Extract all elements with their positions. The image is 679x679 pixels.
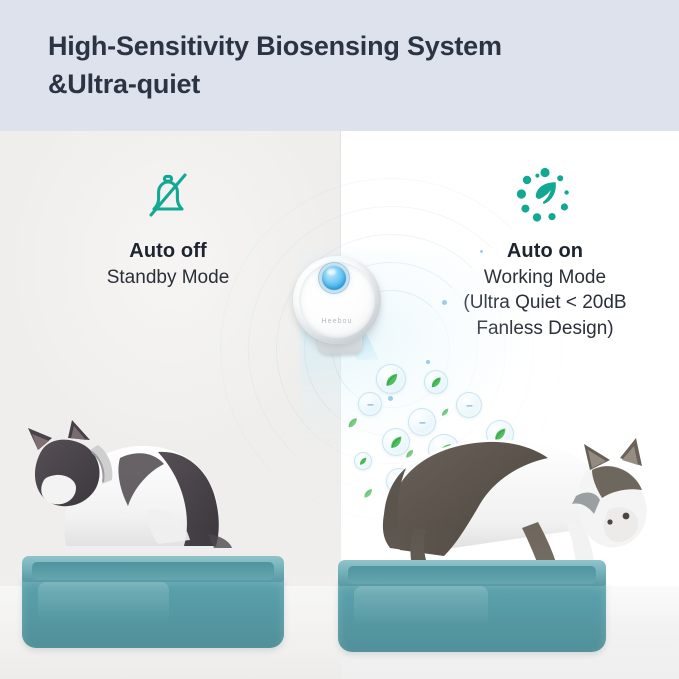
- leaf-bubble: [376, 364, 406, 394]
- leaf-spinner-icon-wrap: [425, 160, 665, 232]
- ion-symbol: –: [367, 398, 373, 410]
- page-title: High-Sensitivity Biosensing System &Ultr…: [48, 27, 648, 104]
- header-band: High-Sensitivity Biosensing System &Ultr…: [0, 0, 679, 131]
- litter-box-right: [338, 560, 606, 652]
- device-brand-label: Heebou: [290, 318, 384, 325]
- litter-box-left-sheen: [38, 582, 169, 622]
- title-line-1: High-Sensitivity Biosensing System: [48, 31, 502, 61]
- device-power-button[interactable]: [322, 266, 346, 290]
- mode-subtitle-line: Standby Mode: [28, 265, 308, 290]
- ion-bubble: –: [456, 392, 482, 418]
- litter-box-right-sheen: [354, 586, 488, 626]
- mode-subtitle-auto-off: Standby Mode: [28, 265, 308, 290]
- ion-symbol: –: [466, 399, 472, 411]
- litter-box-right-interior: [348, 566, 596, 584]
- leaf-spinner-icon: [514, 165, 576, 227]
- bell-off-icon: [142, 168, 194, 224]
- ion-bubble: –: [358, 392, 382, 416]
- mode-title-auto-off: Auto off: [28, 240, 308, 263]
- bell-off-icon-wrap: [28, 160, 308, 232]
- litter-deodorizer-device[interactable]: Heebou: [290, 252, 390, 360]
- title-line-2: &Ultra-quiet: [48, 65, 648, 103]
- litter-box-left-interior: [32, 562, 274, 580]
- mode-block-auto-off: Auto off Standby Mode: [28, 160, 308, 290]
- leaf-bubble: [424, 370, 448, 394]
- litter-box-left: [22, 556, 284, 648]
- product-feature-image: High-Sensitivity Biosensing System &Ultr…: [0, 0, 679, 679]
